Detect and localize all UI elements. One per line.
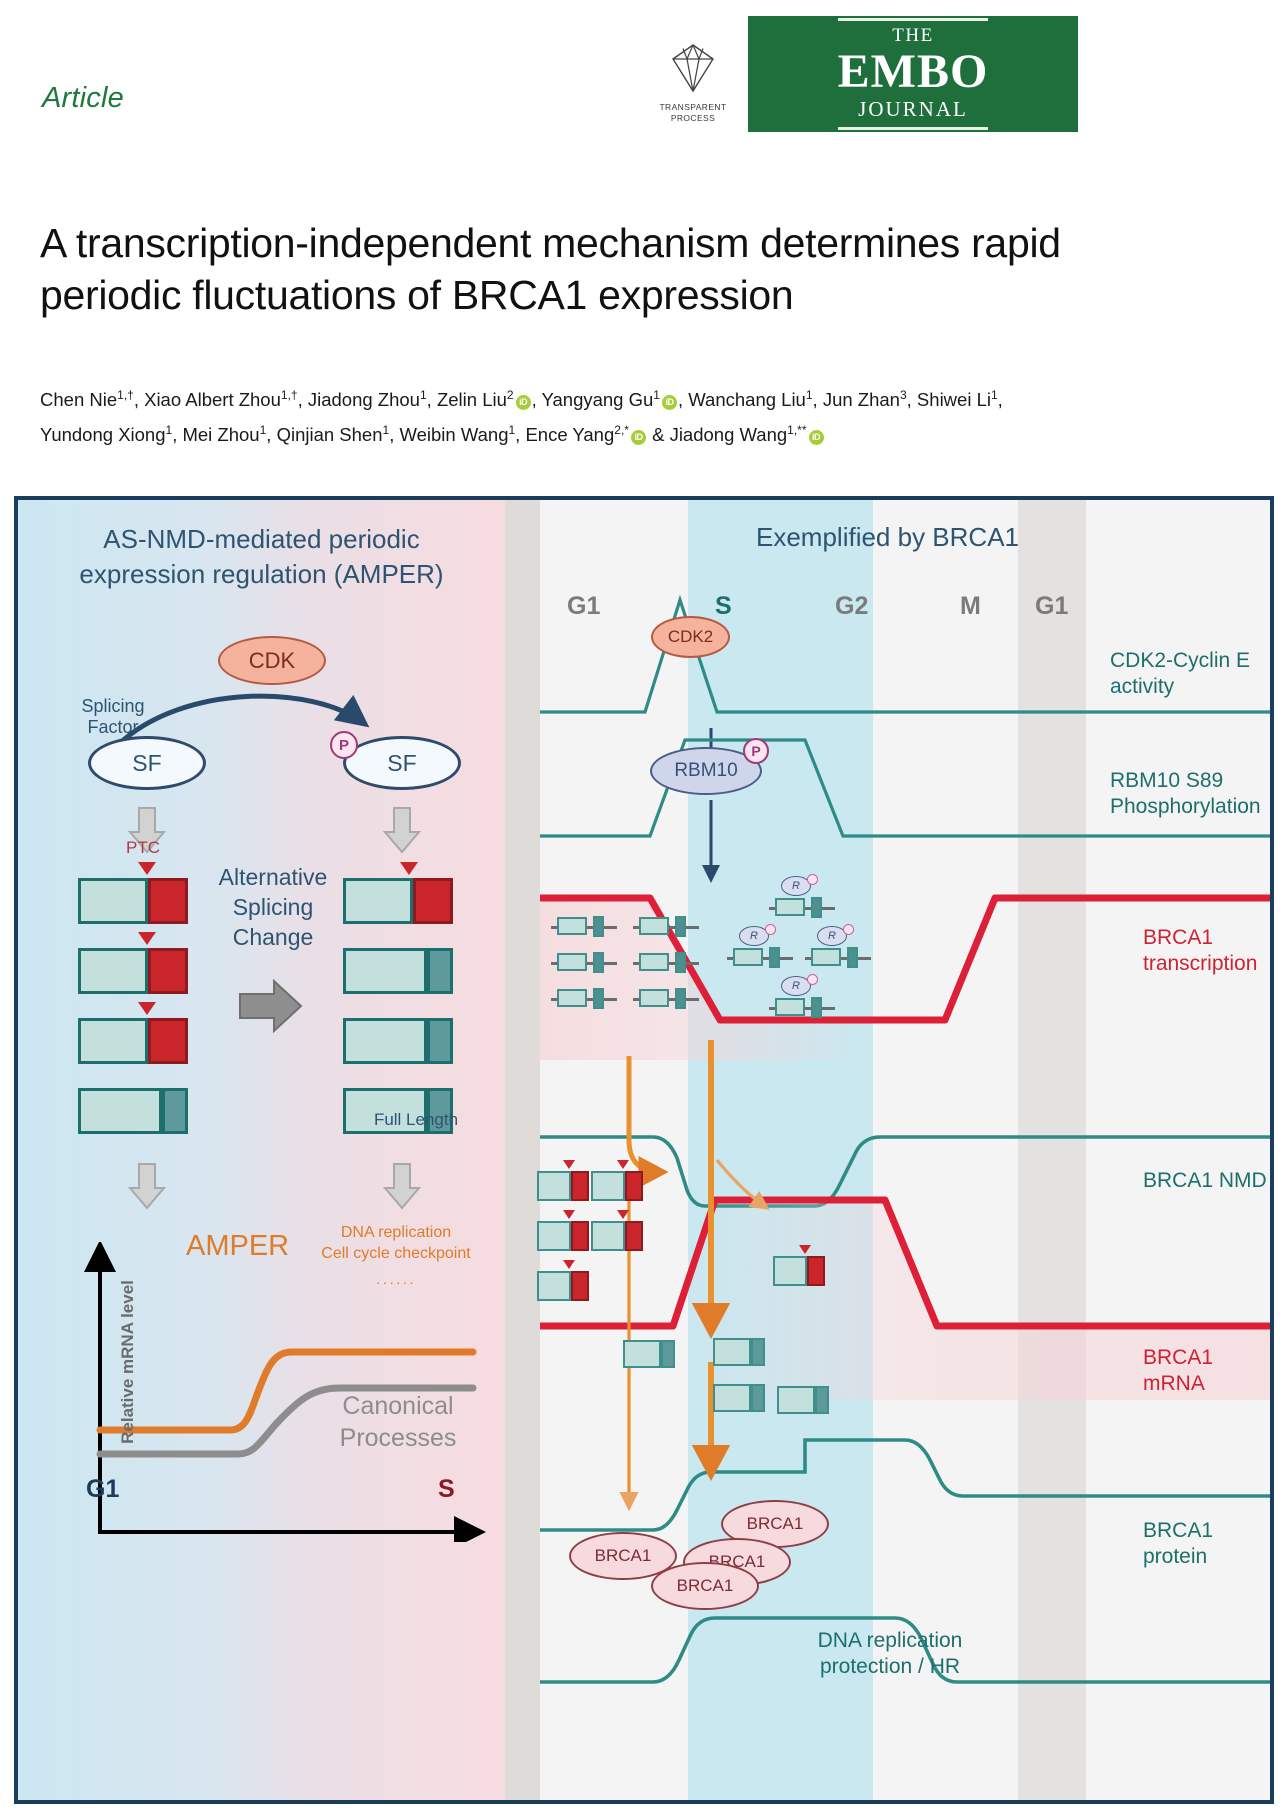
down-arrow-icon — [382, 1162, 422, 1210]
curve-brca1-protein — [540, 1440, 1274, 1530]
left-panel-title-line1: AS-NMD-mediated periodic — [18, 522, 505, 557]
row-label-dna-replication: DNA replication protection / HR — [755, 1628, 1025, 1680]
transcript-ptc — [343, 878, 453, 924]
canonical-line2: Processes — [318, 1422, 478, 1454]
ptc-marker-icon — [138, 862, 156, 875]
ptc-label: PTC — [126, 838, 160, 858]
page-title: A transcription-independent mechanism de… — [40, 217, 1090, 321]
row-label-brca1-nmd: BRCA1 NMD — [1143, 1168, 1267, 1194]
phospho-dot-icon — [807, 974, 818, 985]
row-label-line2: transcription — [1143, 951, 1257, 977]
ptc-marker-icon — [799, 1245, 811, 1254]
phospho-dot-icon — [807, 874, 818, 885]
orcid-icon[interactable]: iD — [809, 430, 824, 445]
page-header: Article TRANSPARENT PROCESS THE EMBO JOU… — [0, 0, 1288, 165]
transcript-ptc-small — [773, 1256, 825, 1286]
ptc-marker-icon — [138, 1002, 156, 1015]
diamond-icon — [670, 42, 716, 99]
splicing-factor-label-line2: Factor — [58, 717, 168, 738]
transcript-full-length — [343, 1018, 453, 1064]
row-label-rbm10-phospho: RBM10 S89 Phosphorylation — [1110, 768, 1261, 820]
amper-x-tick-s: S — [438, 1475, 455, 1504]
logo-journal: JOURNAL — [858, 97, 968, 122]
logo-embo: EMBO — [838, 47, 989, 97]
right-arrow-icon — [238, 978, 304, 1039]
amper-x-tick-g1: G1 — [86, 1475, 119, 1504]
transcript-mrna-small — [623, 1340, 675, 1368]
transcript-mrna-small — [713, 1384, 765, 1412]
row-label-line2: protection / HR — [755, 1654, 1025, 1680]
transcript-ptc-small — [537, 1271, 589, 1301]
ptc-marker-icon — [400, 862, 418, 875]
transcript-full-length — [78, 1088, 188, 1134]
transcript-ptc-small — [537, 1171, 589, 1201]
left-panel-title: AS-NMD-mediated periodic expression regu… — [18, 522, 505, 592]
splicing-factor-label: Splicing Factor — [58, 696, 168, 738]
right-panel-brca1-timecourse: Exemplified by BRCA1 G1 S G2 M G1 — [505, 500, 1270, 1800]
phospho-dot-icon — [843, 924, 854, 935]
alt-splicing-line2: Splicing — [210, 892, 336, 922]
alt-splicing-line3: Change — [210, 922, 336, 952]
cdk2-node: CDK2 — [651, 616, 730, 658]
transcript-ptc-small — [537, 1221, 589, 1251]
ptc-marker-icon — [617, 1210, 629, 1219]
row-label-brca1-mrna: BRCA1 mRNA — [1143, 1345, 1270, 1397]
transcript-mrna-small — [713, 1338, 765, 1366]
row-label-line1: CDK2-Cyclin E — [1110, 648, 1250, 674]
transparent-process-line1: TRANSPARENT — [659, 102, 726, 113]
article-kicker: Article — [42, 82, 124, 115]
orcid-icon[interactable]: iD — [662, 395, 677, 410]
row-label-line2: protein — [1143, 1544, 1213, 1570]
transcript-mrna-small — [777, 1386, 829, 1414]
figure-graphical-abstract: AS-NMD-mediated periodic expression regu… — [14, 496, 1274, 1804]
orcid-icon[interactable]: iD — [516, 395, 531, 410]
orcid-icon[interactable]: iD — [631, 430, 646, 445]
logo-rule-bottom — [838, 127, 988, 130]
transcript-ptc-small — [591, 1171, 643, 1201]
ptc-marker-icon — [138, 932, 156, 945]
row-label-line1: BRCA1 — [1143, 925, 1257, 951]
logo-the: THE — [892, 25, 933, 47]
down-arrow-icon — [382, 806, 422, 854]
splicing-factor-label-line1: Splicing — [58, 696, 168, 717]
row-label-cdk2-cyclin-e: CDK2-Cyclin E activity — [1110, 648, 1250, 700]
row-label-line2: Phosphorylation — [1110, 794, 1261, 820]
phospho-badge-icon: P — [330, 731, 358, 759]
transcript-ptc — [78, 878, 188, 924]
brca1-protein-node: BRCA1 — [651, 1562, 759, 1610]
splicing-factor-unphosphorylated: SF — [88, 736, 206, 790]
ptc-marker-icon — [563, 1260, 575, 1269]
down-arrow-icon — [127, 1162, 167, 1210]
arrow-transcription-to-nmd-g1 — [629, 1056, 661, 1172]
transcript-ptc-small — [591, 1221, 643, 1251]
alternative-splicing-change-label: Alternative Splicing Change — [210, 862, 336, 952]
canonical-line1: Canonical — [318, 1390, 478, 1422]
amper-outcome-line1: DNA replication — [306, 1222, 486, 1243]
row-label-line2: activity — [1110, 674, 1250, 700]
phospho-badge-icon: P — [743, 738, 769, 764]
ptc-marker-icon — [563, 1210, 575, 1219]
row-label-brca1-transcription: BRCA1 transcription — [1143, 925, 1257, 977]
canonical-processes-label: Canonical Processes — [318, 1390, 478, 1454]
transcript-ptc — [78, 1018, 188, 1064]
row-label-brca1-protein: BRCA1 protein — [1143, 1518, 1213, 1570]
amper-y-axis-label: Relative mRNA level — [118, 1272, 138, 1452]
embo-journal-logo: THE EMBO JOURNAL — [748, 16, 1078, 132]
transparent-process-line2: PROCESS — [671, 113, 715, 124]
transcript-full-length — [343, 948, 453, 994]
alt-splicing-line1: Alternative — [210, 862, 336, 892]
author-list: Chen Nie1,†, Xiao Albert Zhou1,†, Jiadon… — [40, 380, 1060, 450]
left-panel-amper-model: AS-NMD-mediated periodic expression regu… — [18, 500, 505, 1800]
full-length-label: Full Length — [351, 1110, 481, 1130]
transparent-process-badge: TRANSPARENT PROCESS — [651, 42, 735, 127]
row-label-line1: DNA replication — [755, 1628, 1025, 1654]
row-label-line1: RBM10 S89 — [1110, 768, 1261, 794]
transcript-ptc — [78, 948, 188, 994]
ptc-marker-icon — [563, 1160, 575, 1169]
splicing-factor-phosphorylated: SF — [343, 736, 461, 790]
left-panel-title-line2: expression regulation (AMPER) — [18, 557, 505, 592]
logo-rule-top — [838, 18, 988, 21]
row-label-line1: BRCA1 — [1143, 1518, 1213, 1544]
ptc-marker-icon — [617, 1160, 629, 1169]
phospho-dot-icon — [765, 924, 776, 935]
